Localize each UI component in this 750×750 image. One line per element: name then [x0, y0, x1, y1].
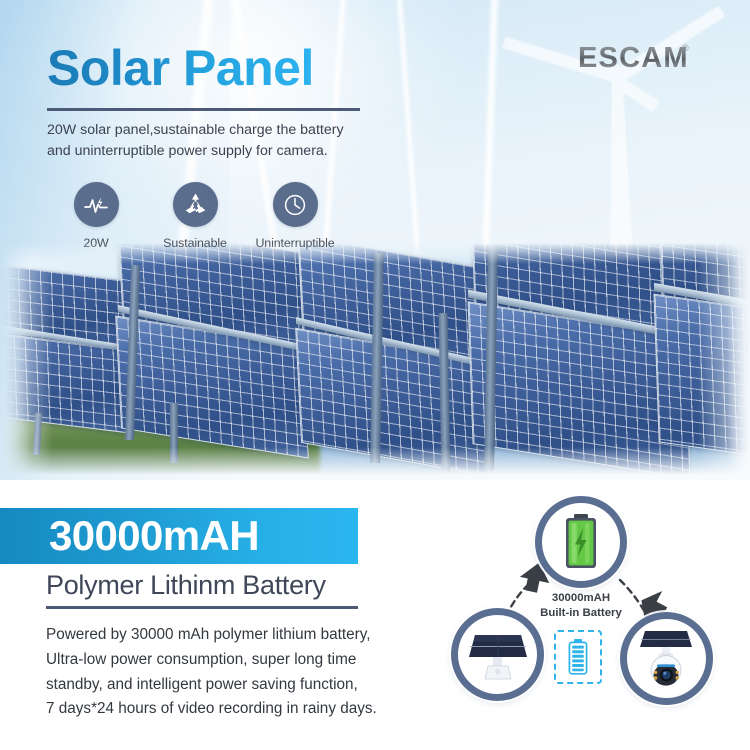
hero-subtitle-line-2: and uninterruptible power supply for cam…: [47, 141, 407, 162]
title-underline: [47, 108, 360, 111]
battery-subtitle-underline: [46, 606, 358, 609]
capacity-banner: 30000mAH: [0, 508, 358, 564]
solar-farm-photo: [0, 243, 750, 475]
diagram-node-solar-panel-inner: [458, 615, 537, 694]
trademark-symbol: ®: [682, 43, 689, 53]
diagram-node-solar-panel: [451, 608, 544, 701]
diagram-node-camera: [620, 612, 713, 705]
feature-item-20w: 20W: [47, 182, 145, 250]
feature-item-uninterruptible: Uninterruptible: [245, 182, 345, 250]
product-banner-page: Solar Panel 20W solar panel,sustainable …: [0, 0, 750, 750]
diagram-center-label-line-1: 30000mAH: [522, 591, 640, 606]
diagram-center-label: 30000mAH Built-in Battery: [522, 591, 640, 622]
diagram-node-camera-inner: [627, 619, 706, 698]
solar-panel-icon: [467, 629, 529, 681]
clock-icon: [282, 192, 308, 218]
diagram-node-battery-inner: [542, 503, 620, 581]
feature-circle-sustainable: [173, 182, 218, 227]
blue-battery-icon: [567, 638, 589, 676]
ptz-camera-solar-icon: [637, 628, 697, 690]
photo-panel: [653, 294, 750, 465]
svg-text:ESCAM: ESCAM: [578, 42, 689, 74]
feature-item-sustainable: Sustainable: [145, 182, 245, 250]
battery-description-line-3: standby, and intelligent power saving fu…: [46, 673, 446, 698]
hero-subtitle-line-1: 20W solar panel,sustainable charge the b…: [47, 120, 407, 141]
page-title: Solar Panel: [47, 43, 314, 93]
diagram-center-label-line-2: Built-in Battery: [522, 606, 640, 621]
feature-circle-20w: [74, 182, 119, 227]
feature-list: 20W Sustainable: [47, 182, 345, 250]
center-battery-box: [554, 630, 602, 684]
battery-section: 30000mAH Polymer Lithinm Battery Powered…: [0, 480, 750, 750]
hero-section: Solar Panel 20W solar panel,sustainable …: [0, 0, 750, 480]
hero-subtitle: 20W solar panel,sustainable charge the b…: [47, 120, 407, 161]
green-battery-icon: [559, 512, 603, 572]
photo-frame-leg: [170, 403, 178, 463]
capacity-banner-text: 30000mAH: [49, 515, 259, 557]
escam-logo: ESCAM ®: [578, 40, 696, 81]
feature-circle-uninterruptible: [273, 182, 318, 227]
diagram-node-battery: [535, 496, 627, 588]
escam-wordmark-icon: ESCAM ®: [578, 40, 696, 76]
battery-description: Powered by 30000 mAh polymer lithium bat…: [46, 623, 446, 722]
pulse-bolt-icon: [83, 192, 109, 218]
battery-description-line-2: Ultra-low power consumption, super long …: [46, 648, 446, 673]
power-cycle-diagram: 30000mAH Built-in Battery: [440, 488, 750, 743]
battery-description-line-1: Powered by 30000 mAh polymer lithium bat…: [46, 623, 446, 648]
battery-subtitle: Polymer Lithinm Battery: [46, 570, 326, 601]
battery-description-line-4: 7 days*24 hours of video recording in ra…: [46, 697, 446, 722]
recycle-icon: [183, 192, 208, 217]
